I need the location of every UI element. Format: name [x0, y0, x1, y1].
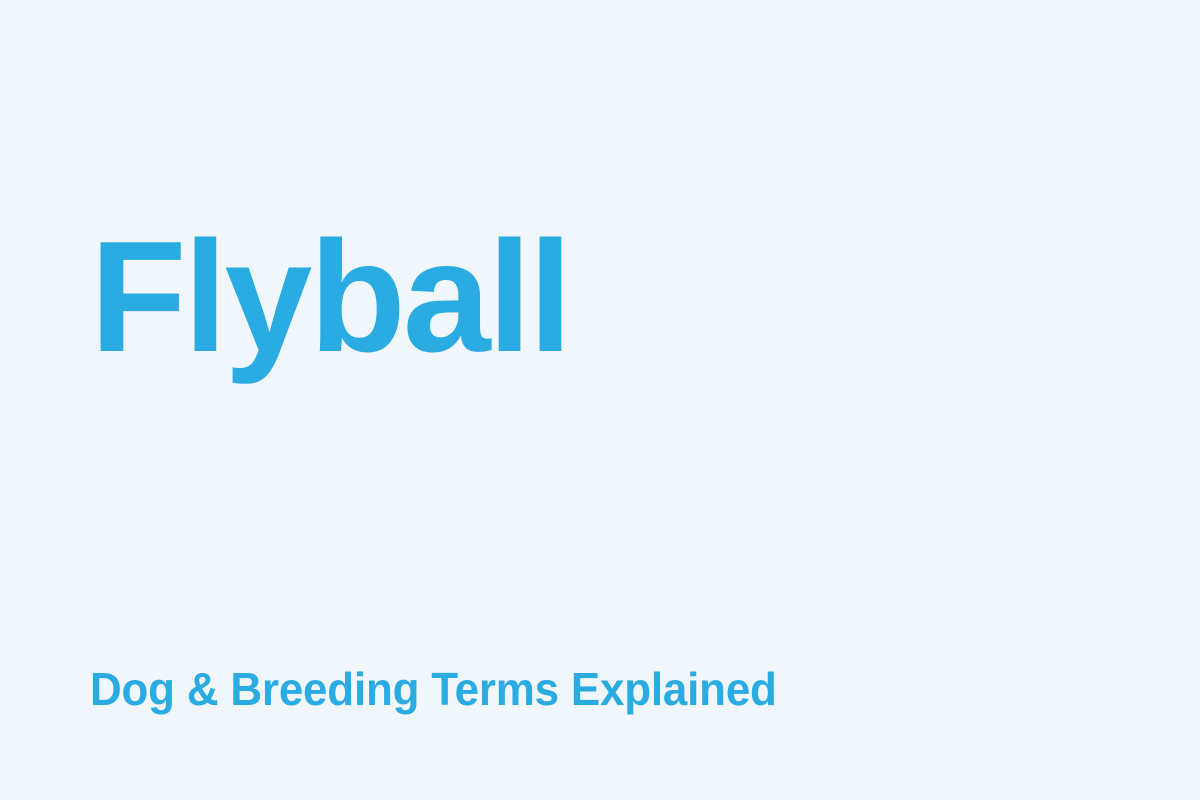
- title-card: Flyball Dog & Breeding Terms Explained: [0, 0, 1200, 800]
- term-title: Flyball: [90, 218, 1110, 376]
- title-block: Flyball: [90, 218, 1110, 376]
- subtitle-block: Dog & Breeding Terms Explained: [90, 666, 1110, 712]
- subtitle-text: Dog & Breeding Terms Explained: [90, 666, 1064, 712]
